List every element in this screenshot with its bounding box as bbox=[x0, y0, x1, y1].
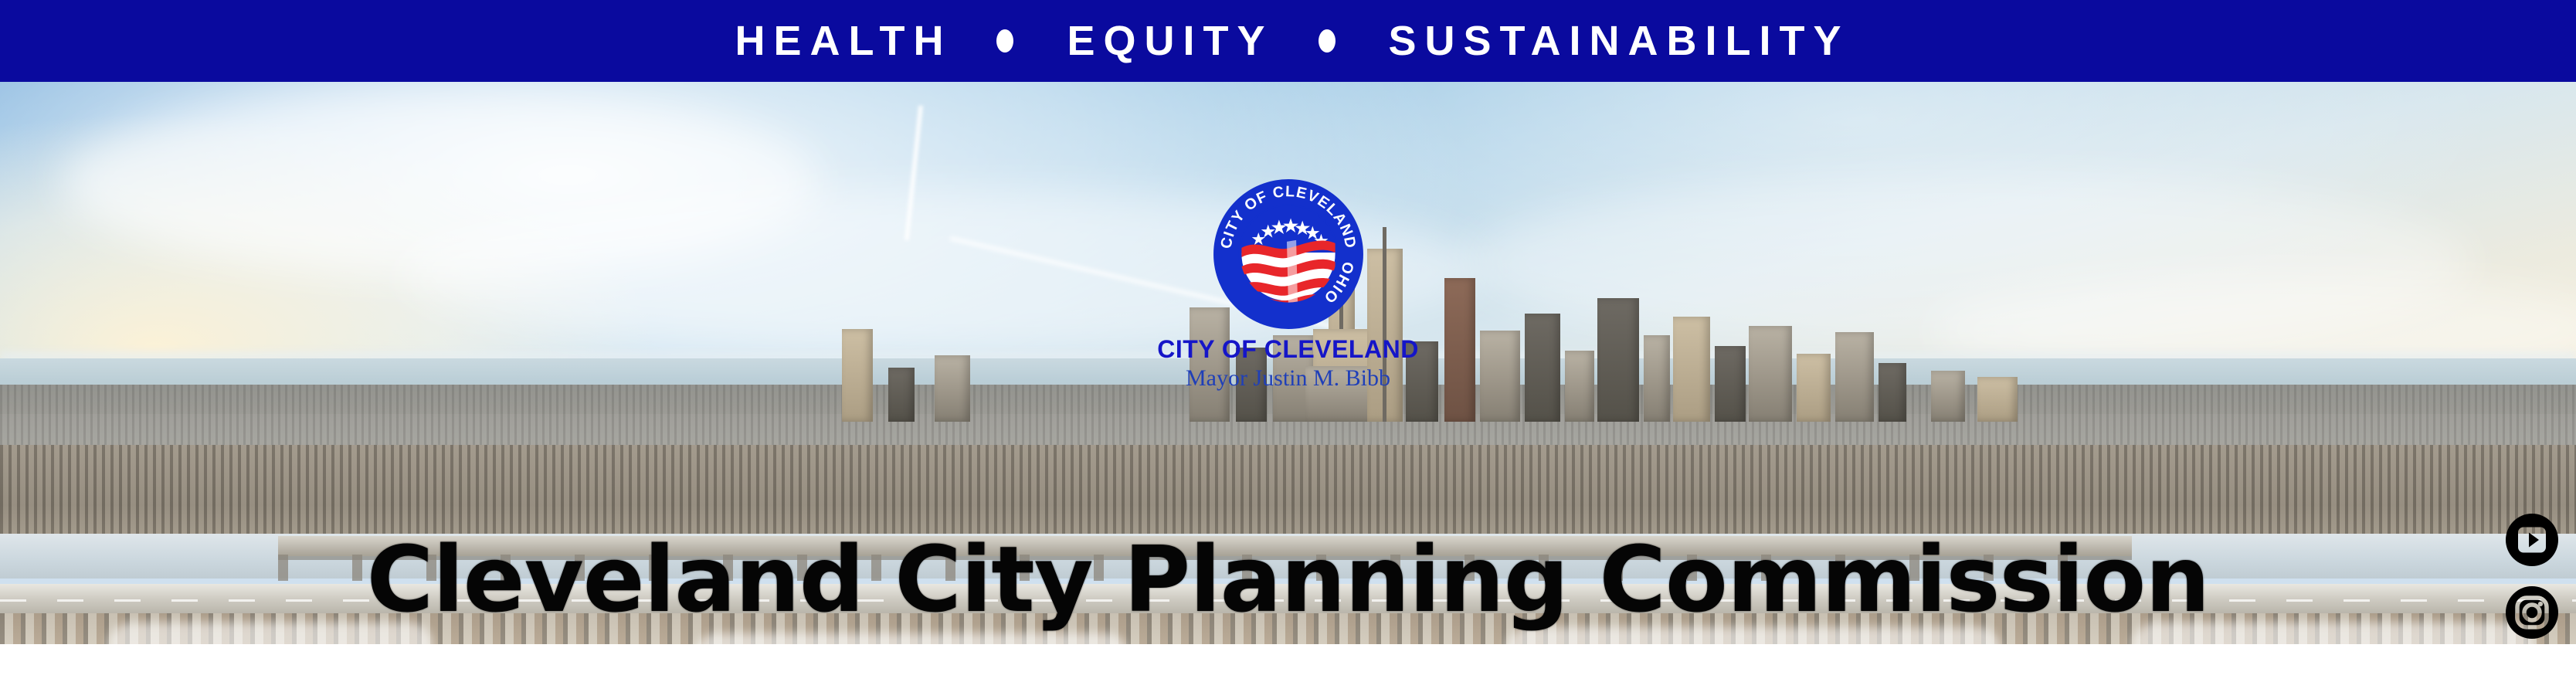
bottom-white-strip bbox=[0, 644, 2576, 682]
city-seal-lockup: CITY OF CLEVELAND OHIO CITY OF CLEVELAND… bbox=[1089, 176, 1487, 390]
skyline-building bbox=[1673, 317, 1710, 422]
banner-word-health: HEALTH bbox=[726, 20, 952, 62]
hero-photo: CITY OF CLEVELAND OHIO CITY OF CLEVELAND… bbox=[0, 82, 2576, 644]
banner-bullet-dot-2 bbox=[1319, 29, 1336, 53]
banner-bullet-dot-1 bbox=[996, 29, 1013, 53]
banner-word-sustainability: SUSTAINABILITY bbox=[1380, 20, 1850, 62]
social-link-instagram[interactable] bbox=[2506, 586, 2558, 639]
skyline-building bbox=[1597, 298, 1639, 422]
skyline-building bbox=[1879, 363, 1906, 422]
social-link-youtube[interactable] bbox=[2506, 514, 2558, 566]
social-links[interactable] bbox=[2505, 514, 2559, 644]
skyline-building bbox=[1644, 335, 1670, 422]
city-of-cleveland-seal-icon: CITY OF CLEVELAND OHIO bbox=[1210, 176, 1366, 332]
snow-patch bbox=[695, 633, 1128, 644]
banner-word-equity: EQUITY bbox=[1058, 20, 1273, 62]
instagram-icon[interactable] bbox=[2506, 586, 2558, 639]
page-root: HEALTH EQUITY SUSTAINABILITY bbox=[0, 0, 2576, 682]
skyline-building bbox=[935, 355, 970, 422]
skyline-building bbox=[888, 368, 915, 422]
skyline-building bbox=[1977, 377, 2018, 422]
skyline-building bbox=[1797, 354, 1831, 422]
lockup-title: CITY OF CLEVELAND bbox=[1089, 337, 1487, 363]
skyline-building bbox=[1525, 314, 1560, 422]
skyline-building bbox=[842, 329, 873, 422]
skyline-building bbox=[1931, 371, 1965, 422]
top-banner: HEALTH EQUITY SUSTAINABILITY bbox=[0, 0, 2576, 82]
youtube-icon[interactable] bbox=[2506, 514, 2558, 566]
skyline-building bbox=[1565, 351, 1594, 422]
skyline-building bbox=[1715, 346, 1746, 422]
skyline-building bbox=[1749, 326, 1792, 422]
page-title: Cleveland City Planning Commission bbox=[0, 534, 2576, 625]
top-banner-words: HEALTH EQUITY SUSTAINABILITY bbox=[726, 20, 1849, 62]
skyline-building bbox=[1835, 332, 1874, 422]
lockup-subtitle: Mayor Justin M. Bibb bbox=[1089, 366, 1487, 391]
